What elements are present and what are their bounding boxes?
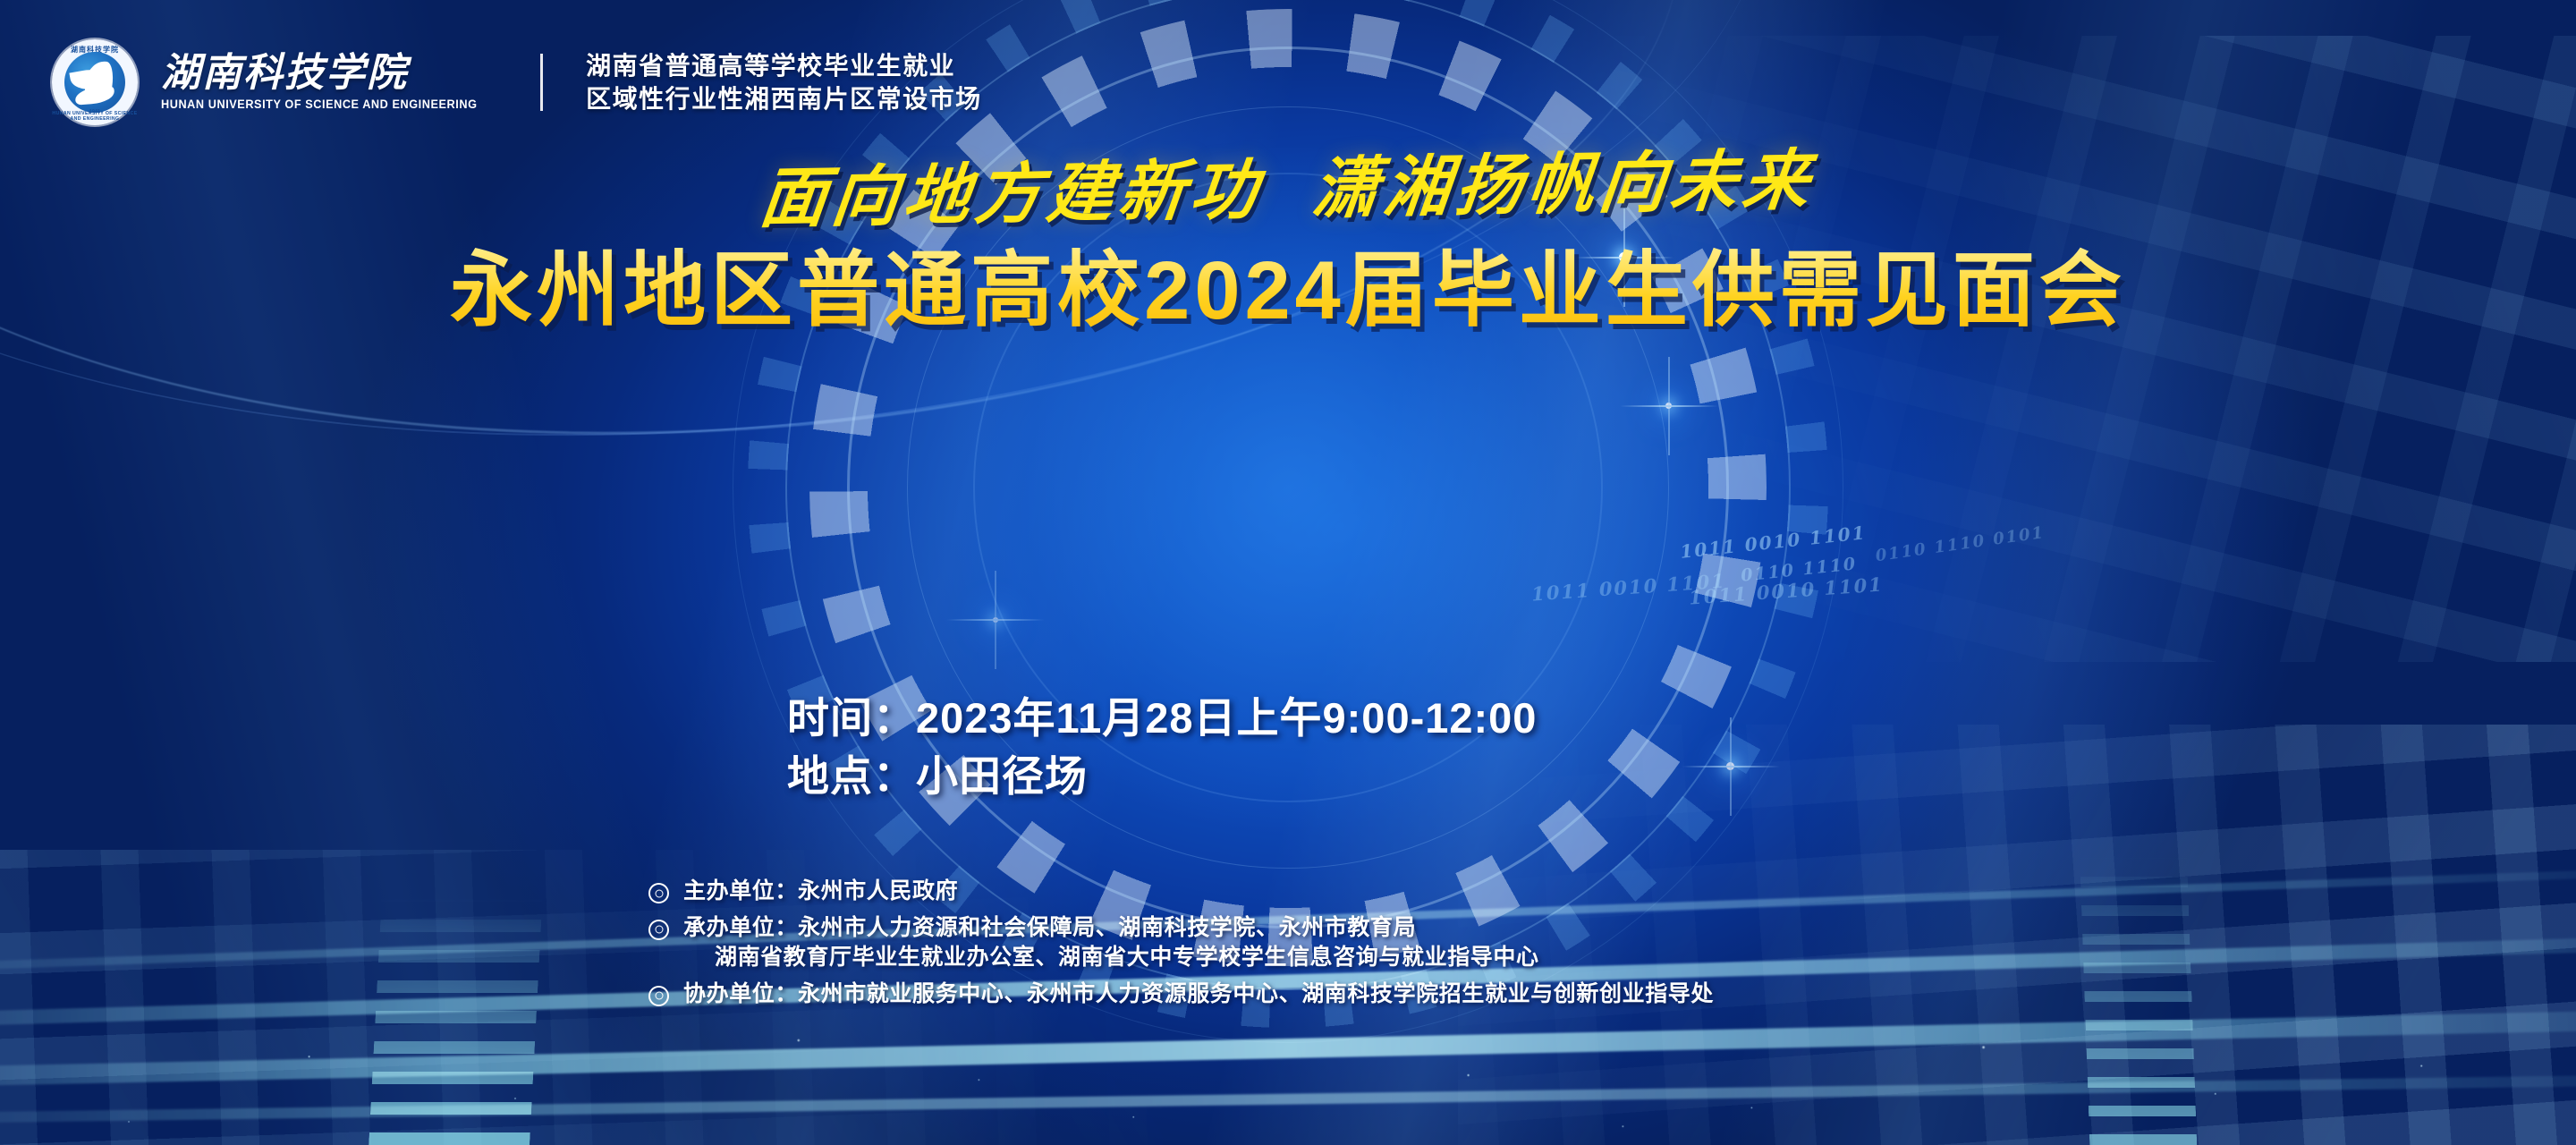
sparkle-icon-2 <box>1665 403 1672 409</box>
double-circle-bullet-icon <box>648 986 669 1006</box>
double-circle-bullet-icon <box>648 920 669 940</box>
organizer-coorganizer: 承办单位：永州市人力资源和社会保障局、湖南科技学院、永州市教育局 <box>683 915 1416 940</box>
page-title: 永州地区普通高校2024届毕业生供需见面会 <box>0 224 2576 343</box>
organizer-host: 主办单位：永州市人民政府 <box>683 877 958 907</box>
market-subtitle-block: 湖南省普通高等学校毕业生就业 区域性行业性湘西南片区常设市场 <box>586 52 982 114</box>
list-item: 承办单位：永州市人力资源和社会保障局、湖南科技学院、永州市教育局 湖南省教育厅毕… <box>648 913 1714 973</box>
header-divider <box>540 54 543 111</box>
slogan-part-2: 潇湘扬帆向未来 <box>1309 145 1818 227</box>
list-item: 协办单位：永州市就业服务中心、永州市人力资源服务中心、湖南科技学院招生就业与创新… <box>648 980 1714 1010</box>
organizer-coorganizer-continuation: 湖南省教育厅毕业生就业办公室、湖南省大中专学校学生信息咨询与就业指导中心 <box>715 943 1539 973</box>
university-name-cn: 湖南科技学院 <box>161 54 497 93</box>
sparkle-icon-3 <box>1726 762 1734 770</box>
market-subtitle-line-1: 湖南省普通高等学校毕业生就业 <box>586 52 982 80</box>
university-seal-icon: 湖南科技学院 1941 HUNAN UNIVERSITY OF SCIENCE … <box>52 39 138 125</box>
list-item: 主办单位：永州市人民政府 <box>648 877 1714 907</box>
university-name-block: 湖南科技学院 HUNAN UNIVERSITY OF SCIENCE AND E… <box>161 54 497 111</box>
seal-stroke-3 <box>74 86 114 105</box>
event-place: 地点：小田径场 <box>787 751 1537 801</box>
organizer-assistant: 协办单位：永州市就业服务中心、永州市人力资源服务中心、湖南科技学院招生就业与创新… <box>683 980 1714 1010</box>
seal-inner-emblem <box>64 52 125 113</box>
organizer-coorganizer-block: 承办单位：永州市人力资源和社会保障局、湖南科技学院、永州市教育局 湖南省教育厅毕… <box>683 913 1539 973</box>
slogan-spacer <box>1260 212 1310 213</box>
banner-header: 湖南科技学院 1941 HUNAN UNIVERSITY OF SCIENCE … <box>52 39 982 125</box>
seal-ring-text-en: HUNAN UNIVERSITY OF SCIENCE AND ENGINEER… <box>52 111 138 122</box>
event-meta: 时间：2023年11月28日上午9:00-12:00 地点：小田径场 <box>787 693 1537 801</box>
event-banner: 1011 0010 1101 0110 1110 1011 0010 1101 … <box>0 0 2576 1145</box>
event-time: 时间：2023年11月28日上午9:00-12:00 <box>787 693 1537 742</box>
double-circle-bullet-icon <box>648 883 669 903</box>
market-subtitle-line-2: 区域性行业性湘西南片区常设市场 <box>586 85 982 113</box>
sparkle-icon-4 <box>993 617 998 623</box>
organizer-list: 主办单位：永州市人民政府 承办单位：永州市人力资源和社会保障局、湖南科技学院、永… <box>648 877 1714 1009</box>
university-name-en: HUNAN UNIVERSITY OF SCIENCE AND ENGINEER… <box>161 98 478 111</box>
